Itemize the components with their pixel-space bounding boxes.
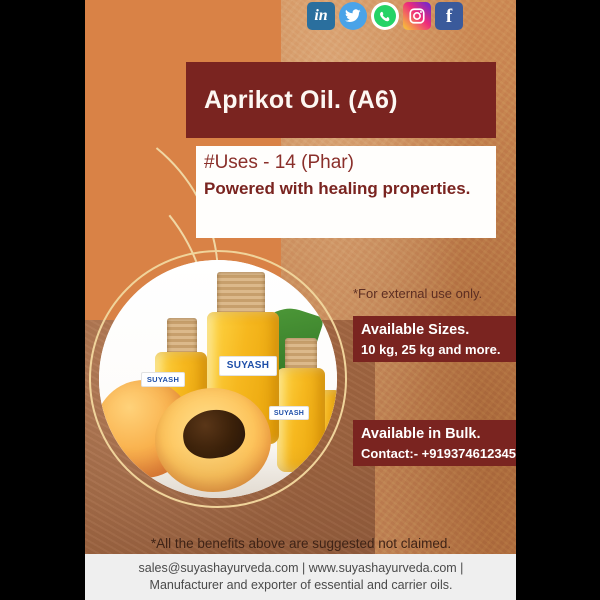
available-sizes-heading: Available Sizes. (361, 321, 517, 341)
bulk-contact-number[interactable]: Contact:- +919374612345 (361, 445, 517, 463)
whatsapp-icon[interactable] (371, 2, 399, 30)
disclaimer-text: *All the benefits above are suggested no… (85, 536, 517, 551)
facebook-icon[interactable]: f (435, 2, 463, 30)
poster-canvas: SUYASH SUYASH SUYASH in (85, 0, 517, 600)
twitter-icon[interactable] (339, 2, 367, 30)
uses-body: Powered with healing properties. (204, 179, 496, 199)
uses-box: #Uses - 14 (Phar) Powered with healing p… (196, 146, 496, 238)
linkedin-icon[interactable]: in (307, 2, 335, 30)
available-bulk-heading: Available in Bulk. (361, 425, 517, 445)
available-bulk-box: Available in Bulk. Contact:- +9193746123… (353, 420, 517, 466)
footer-contact-line[interactable]: sales@suyashayurveda.com | www.suyashayu… (139, 561, 464, 577)
social-icon-bar: in f (307, 2, 463, 30)
available-sizes-box: Available Sizes. 10 kg, 25 kg and more. (353, 316, 517, 362)
available-sizes-value: 10 kg, 25 kg and more. (361, 341, 517, 359)
linkedin-glyph: in (314, 8, 327, 24)
footer-bar: sales@suyashayurveda.com | www.suyashayu… (85, 554, 517, 600)
letterbox-bar-left (0, 0, 85, 600)
bottle-brand-label-3: SUYASH (269, 406, 309, 420)
instagram-icon[interactable] (403, 2, 431, 30)
poster-root: SUYASH SUYASH SUYASH in (0, 0, 600, 600)
brand-name-text: SUYASH (227, 361, 270, 371)
uses-heading: #Uses - 14 (Phar) (204, 151, 496, 175)
page-title: Aprikot Oil. (A6) (186, 86, 398, 115)
external-use-note: *For external use only. (353, 286, 482, 301)
facebook-glyph: f (446, 7, 452, 26)
bottle-brand-label-2: SUYASH (141, 372, 185, 387)
brand-name-text: SUYASH (274, 410, 304, 417)
product-photo: SUYASH SUYASH SUYASH (99, 260, 337, 498)
footer-tagline: Manufacturer and exporter of essential a… (150, 578, 453, 594)
photo-shadow (99, 446, 337, 498)
bottle-brand-label-1: SUYASH (219, 356, 277, 376)
brand-name-text: SUYASH (147, 376, 179, 384)
letterbox-bar-right (516, 0, 600, 600)
product-title-box: Aprikot Oil. (A6) (186, 62, 496, 138)
